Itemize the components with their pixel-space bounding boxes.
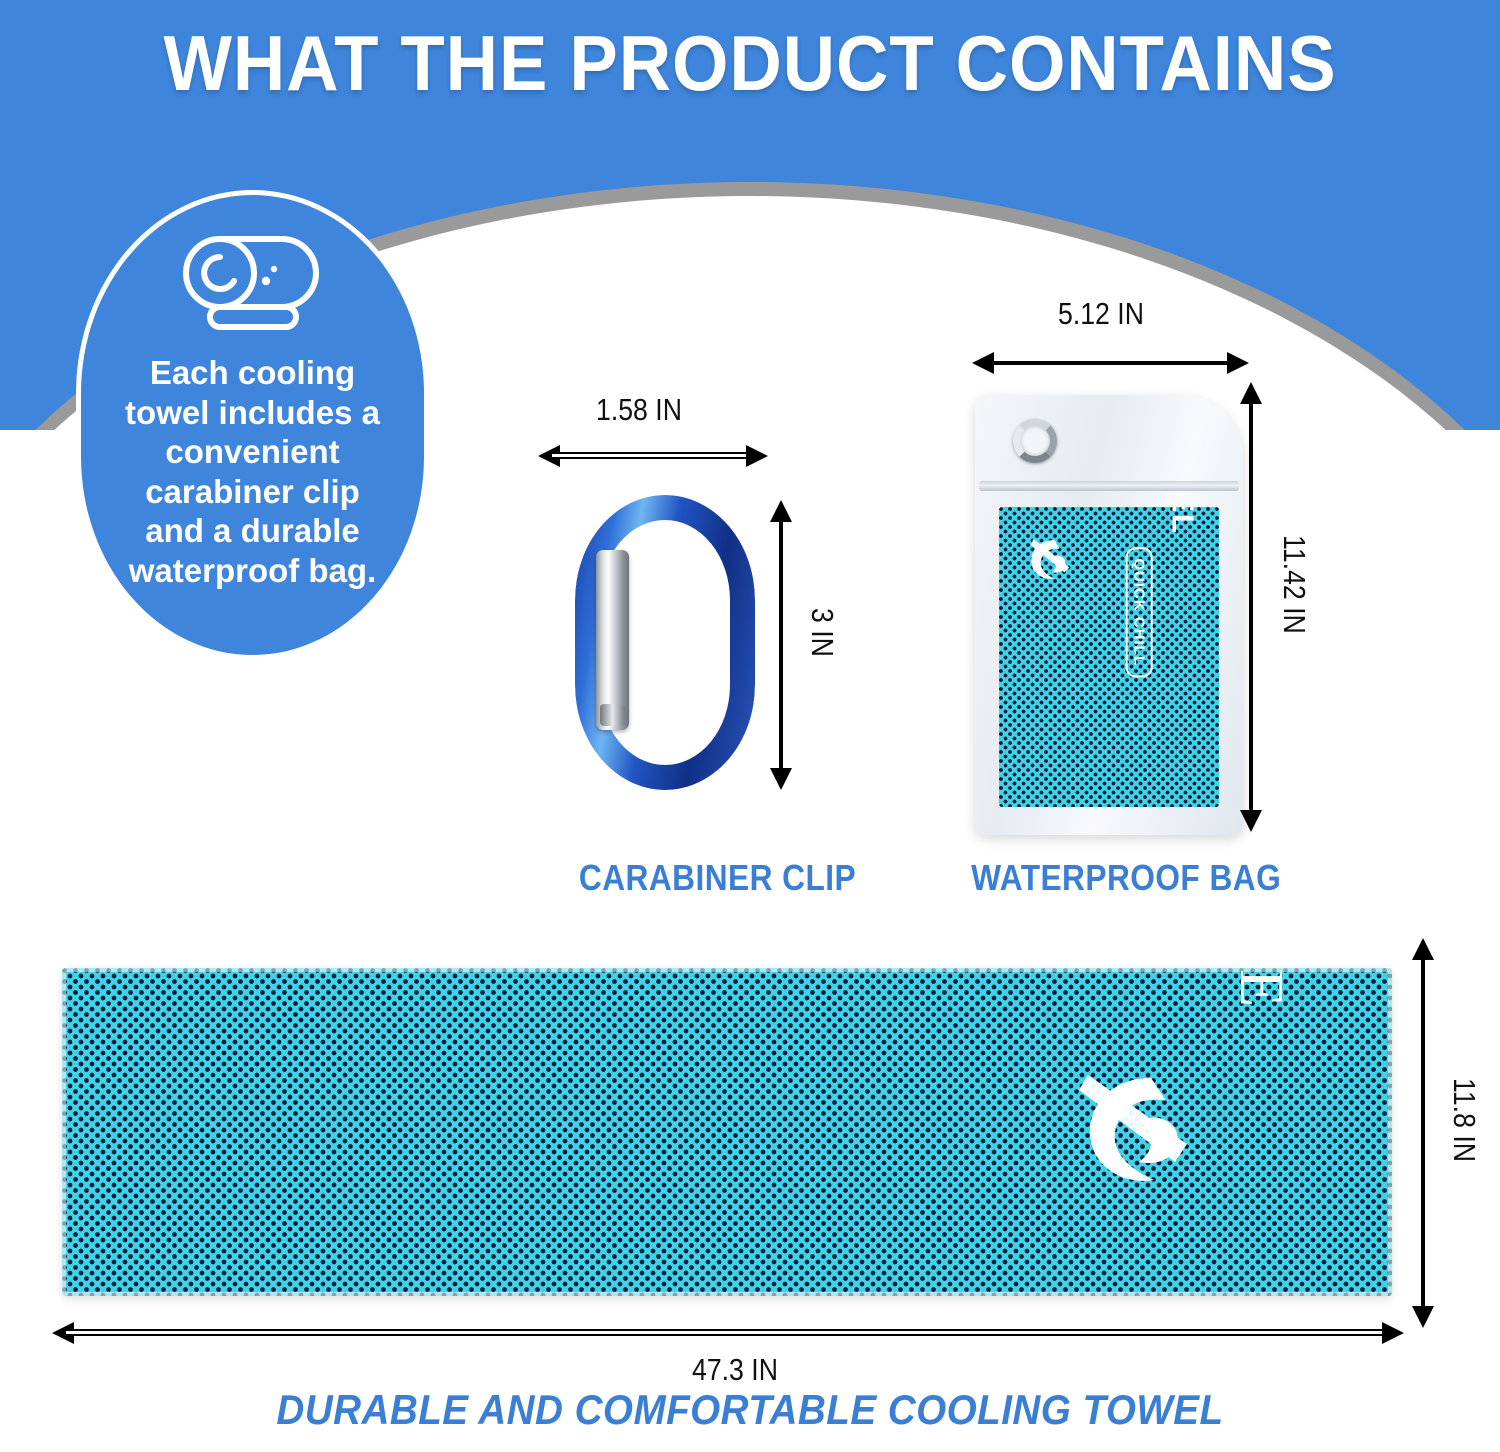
towel-height-arrow [1412,938,1434,1328]
carabiner-width-label: 1.58 IN [596,392,682,428]
badge-line: and a durable [103,511,403,551]
page-title: WHAT THE PRODUCT CONTAINS [53,24,1448,102]
badge-line: towel includes a [103,393,403,433]
bag-height-label: 11.42 IN [1276,535,1312,634]
towel-height-label: 11.8 IN [1446,1078,1482,1162]
bag-grommet-icon [1013,419,1057,463]
feature-badge-text: Each cooling towel includes a convenient… [103,353,403,591]
towel-width-label: 47.3 IN [692,1352,778,1388]
bag-tagline-badge: QUICK CHILL [1126,547,1153,677]
cooling-towel-image: CSITE [62,968,1392,1296]
towel-brand-text: CSITE [1225,968,1296,1012]
bag-width-label: 5.12 IN [1058,296,1144,332]
badge-line: waterproof bag. [103,551,403,591]
badge-line: convenient [103,432,403,472]
bag-height-arrow [1240,382,1262,832]
carabiner-width-arrow [538,445,768,467]
footer-title: DURABLE AND COMFORTABLE COOLING TOWEL [60,1386,1440,1434]
infographic-canvas: WHAT THE PRODUCT CONTAINS Each cooling t… [0,0,1500,1452]
rolled-towel-icon [178,229,328,339]
bag-inner-towel: CSITE COOLING TOWEL QUICK CHILL [999,507,1219,807]
carabiner-height-label: 3 IN [804,608,840,657]
carabiner-caption: CARABINER CLIP [579,857,856,899]
bag-body: CSITE COOLING TOWEL QUICK CHILL [975,395,1243,835]
towel-width-arrow [52,1322,1404,1344]
carabiner-gate [596,550,629,730]
badge-line: Each cooling [103,353,403,393]
bag-zip-seal [979,481,1239,491]
bag-width-arrow [972,352,1249,374]
feature-badge: Each cooling towel includes a convenient… [76,190,429,660]
carabiner-height-arrow [770,500,792,790]
csite-swirl-logo-icon [1067,1054,1217,1204]
bag-caption: WATERPROOF BAG [971,857,1281,899]
waterproof-bag-image: CSITE COOLING TOWEL QUICK CHILL [975,395,1243,835]
carabiner-clip-image [575,495,755,790]
bag-product-line-text: COOLING TOWEL [1165,507,1201,535]
csite-swirl-logo-icon [1021,529,1083,591]
badge-line: carabiner clip [103,472,403,512]
